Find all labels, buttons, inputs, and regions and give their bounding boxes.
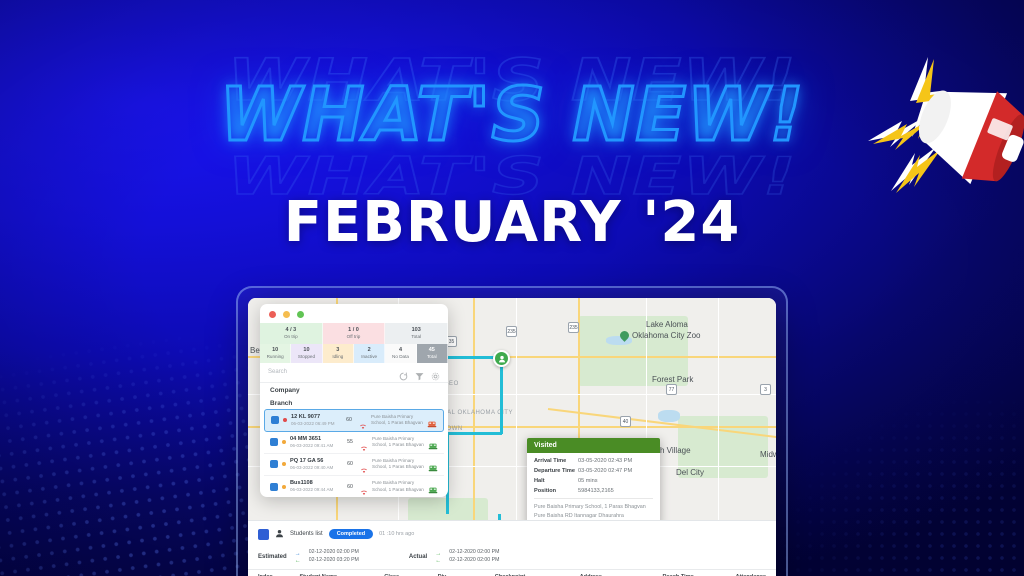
maximize-icon[interactable] [297,311,304,318]
bus-icon [428,438,438,447]
popup-row: Departure Time 03-05-2020 02:47 PM [534,468,653,474]
popup-title: Visited [527,438,660,453]
school-name: Pure Baisha Primary School, 1 Paras Bhag… [372,480,424,493]
settings-icon[interactable] [431,368,440,377]
stop-marker-icon[interactable] [493,350,510,367]
signal-icon [360,461,368,468]
stat-label: Off trip [324,334,384,340]
highway-shield: 40 [620,416,631,427]
students-list-title: Students list [290,531,323,537]
vehicle-list-panel: 4 / 3 On trip 1 / 0 Off trip 103 Total 1… [260,304,448,497]
school-name: Pure Baisha Primary School, 1 Paras Bhag… [372,436,424,449]
stat-label: Inactive [355,354,383,360]
stat-label: Total [386,334,446,340]
popup-key: Halt [534,478,578,484]
stat-chip[interactable]: 10 Running [260,344,291,363]
vehicle-name: PQ 17 GA 56 [290,458,340,465]
signal-icon [360,483,368,490]
vehicle-name: Bus1108 [290,480,340,487]
status-dot [282,485,286,489]
list-item[interactable]: 12 KL 9077 06-03-2022 06:49 PM 60 Pure B… [264,409,444,432]
refresh-icon[interactable] [399,368,408,377]
bus-icon [427,416,437,425]
group-label-branch[interactable]: Branch [260,396,448,409]
laptop-mockup: Lake Aloma Oklahoma City Zoo Forest Park… [236,286,788,576]
stat-value: 45 [418,347,446,354]
highway-shield: 3 [760,384,771,395]
group-label-company[interactable]: Company [260,383,448,396]
stat-value: 4 [386,347,414,354]
stat-chip[interactable]: 3 Idling [323,344,354,363]
stat-chip[interactable]: 4 / 3 On trip [260,323,323,344]
estimated-time-start: 02-12-2020 02:00 PM [309,549,359,557]
filter-icon[interactable] [415,368,424,377]
students-table-header: Index Student Name Class Div Checkpoint … [248,569,776,576]
vehicle-time: 06-03-2022 09:44 AM [290,487,340,493]
status-badge: Completed [329,529,373,539]
stat-value: 10 [292,347,320,354]
row-checkbox[interactable] [270,460,278,468]
stat-label: No Data [386,354,414,360]
popup-value: 03-05-2020 02:43 PM [578,458,632,464]
highway-shield: 235 [568,322,579,333]
stat-chip[interactable]: 103 Total [385,323,448,344]
stats-row-bottom: 10 Running 10 Stopped 3 Idling 2 Inactiv… [260,344,448,363]
vehicle-time: 06-03-2022 06:49 PM [291,421,339,427]
elapsed-time: 01 :10 hrs ago [379,531,414,537]
signal-icon [360,439,368,446]
bus-icon [428,460,438,469]
list-item[interactable]: PQ 17 GA 56 06-03-2022 09:40 AM 60 Pure … [264,454,444,476]
list-toggle-icon[interactable] [258,529,269,540]
actual-arrows: →← [435,551,441,564]
status-dot [282,462,286,466]
popup-address: Pure Baisha Primary School, 1 Paras Bhag… [534,498,653,520]
minimize-icon[interactable] [283,311,290,318]
popup-row: Halt 05 mins [534,478,653,484]
signal-icon [359,417,367,424]
search-input[interactable]: Search [268,369,287,375]
estimated-arrows: →← [295,551,301,564]
stats-row-top: 4 / 3 On trip 1 / 0 Off trip 103 Total [260,323,448,344]
map-label: Lake Aloma [646,320,688,329]
route-segment [500,356,503,434]
row-checkbox[interactable] [271,416,279,424]
stat-label: Stopped [292,354,320,360]
popup-row: Arrival Time 03-05-2020 02:43 PM [534,458,653,464]
vehicle-time: 06-03-2022 09:40 AM [290,465,340,471]
stat-value: 103 [386,327,446,334]
popup-key: Position [534,488,578,494]
stat-chip[interactable]: 45 Total [417,344,448,363]
school-name: Pure Baisha Primary School, 1 Paras Bhag… [372,458,424,471]
stat-chip[interactable]: 10 Stopped [291,344,322,363]
vehicle-time: 06-03-2022 09:41 AM [290,443,340,449]
stat-chip[interactable]: 4 No Data [385,344,416,363]
actual-label: Actual [409,554,427,560]
row-checkbox[interactable] [270,483,278,491]
map-label: Del City [676,468,704,477]
popup-value: 5984133,2165 [578,488,614,494]
stat-value: 2 [355,347,383,354]
highway-shield: 77 [666,384,677,395]
map-label: Forest Park [652,375,693,384]
status-dot [282,440,286,444]
student-count: 60 [343,417,355,423]
stat-chip[interactable]: 2 Inactive [354,344,385,363]
bus-icon [428,482,438,491]
stat-value: 4 / 3 [261,327,321,334]
student-count: 55 [344,439,356,445]
route-segment [446,432,502,435]
popup-value: 03-05-2020 02:47 PM [578,468,632,474]
stat-label: Idling [324,354,352,360]
person-icon [275,525,284,543]
school-name: Pure Baisha Primary School, 1 Paras Bhag… [371,414,423,427]
status-dot [283,418,287,422]
actual-time-end: 02-12-2020 02:00 PM [449,557,499,565]
stat-label: On trip [261,334,321,340]
search-bar[interactable]: Search [260,363,448,383]
popup-value: 05 mins [578,478,598,484]
estimated-label: Estimated [258,554,287,560]
stat-chip[interactable]: 1 / 0 Off trip [323,323,386,344]
map-label: Oklahoma City Zoo [632,331,700,340]
list-item[interactable]: 04 MM 3651 06-03-2022 09:41 AM 55 Pure B… [264,432,444,454]
stat-label: Total [418,354,446,360]
megaphone-icon [862,45,1024,205]
window-controls [260,304,448,323]
row-checkbox[interactable] [270,438,278,446]
stat-value: 10 [261,347,289,354]
close-icon[interactable] [269,311,276,318]
highway-shield: 235 [506,326,517,337]
popup-key: Arrival Time [534,458,578,464]
vehicle-name: 04 MM 3651 [290,436,340,443]
stat-label: Running [261,354,289,360]
stat-value: 3 [324,347,352,354]
stat-value: 1 / 0 [324,327,384,334]
students-list-bar: Students list Completed 01 :10 hrs ago E… [248,520,776,576]
vehicle-name: 12 KL 9077 [291,414,339,421]
app-screenshot: Lake Aloma Oklahoma City Zoo Forest Park… [248,298,776,576]
student-count: 60 [344,461,356,467]
estimated-time-end: 02-12-2020 03:20 PM [309,557,359,565]
map-label: Midwest City [760,450,776,459]
list-item[interactable]: Bus1108 06-03-2022 09:44 AM 60 Pure Bais… [264,476,444,497]
visit-info-popup: Visited Arrival Time 03-05-2020 02:43 PM… [527,438,660,526]
popup-key: Departure Time [534,468,578,474]
actual-time-start: 02-12-2020 02:00 PM [449,549,499,557]
popup-row: Position 5984133,2165 [534,488,653,494]
student-count: 60 [344,484,356,490]
